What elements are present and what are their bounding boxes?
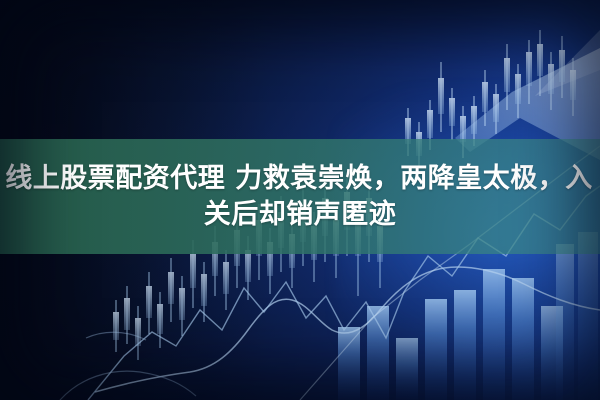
promo-image: 线上股票配资代理 力救袁崇焕，两降皇太极，入 关后却销声匿迹	[0, 0, 600, 400]
headline-line-2: 关后却销声匿迹	[204, 197, 397, 233]
trend-curve-lower-left	[60, 332, 196, 400]
headline-line-1: 线上股票配资代理 力救袁崇焕，两降皇太极，入	[5, 161, 592, 197]
headline-banner: 线上股票配资代理 力救袁崇焕，两降皇太极，入 关后却销声匿迹	[0, 139, 600, 254]
